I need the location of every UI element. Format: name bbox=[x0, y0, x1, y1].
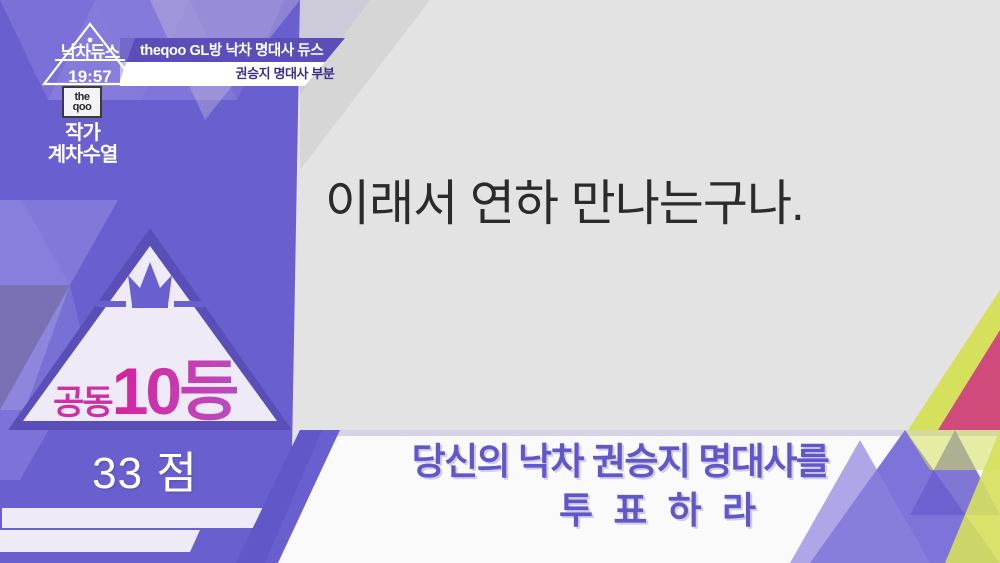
cta-line-1: 당신의 낙차 권승지 명대사를 bbox=[360, 443, 880, 480]
author-name: 계차수열 bbox=[0, 145, 165, 165]
rank-tie-label: 공동 bbox=[53, 384, 112, 422]
theqoo-logo: the qoo bbox=[62, 86, 102, 118]
rank-position: 10등 bbox=[112, 354, 237, 428]
video-overlay-card: 낙차듀스 19:57 the qoo 작가 계차수열 theqoo GL방 낙차… bbox=[0, 0, 1000, 563]
header-title: theqoo GL방 낙차 명대사 듀스 bbox=[140, 44, 440, 59]
quote-text: 이래서 연하 만나는구나. bbox=[325, 175, 945, 234]
theqoo-logo-line2: qoo bbox=[73, 102, 92, 112]
badge-timestamp: 19:57 bbox=[42, 68, 138, 85]
cta-sliver-left bbox=[0, 530, 200, 552]
cta-banner-topline bbox=[328, 430, 1000, 436]
rank-display: 공동10등 bbox=[0, 358, 290, 424]
score-value: 33 점 bbox=[0, 452, 290, 496]
panel-separator-bar bbox=[2, 508, 292, 528]
author-label: 작가 bbox=[0, 123, 165, 143]
badge: 낙차듀스 19:57 bbox=[42, 22, 138, 84]
header-subtitle: 권승지 명대사 부분 bbox=[140, 67, 430, 80]
cta-line-2: 투 표 하 라 bbox=[430, 492, 890, 529]
badge-title: 낙차듀스 bbox=[42, 44, 138, 61]
